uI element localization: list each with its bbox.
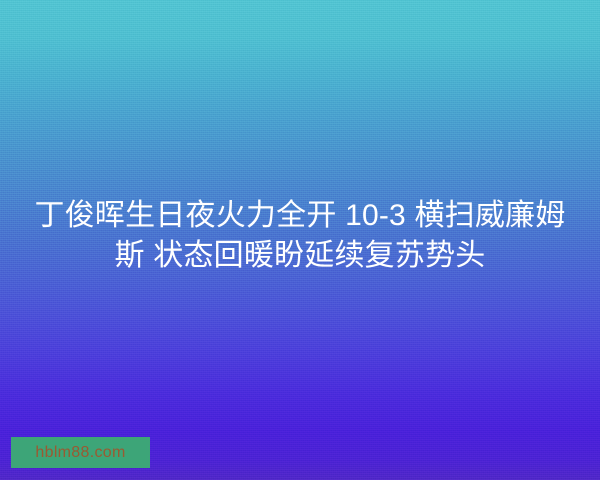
watermark-badge: hblm88.com bbox=[11, 437, 150, 468]
watermark-text: hblm88.com bbox=[35, 445, 125, 461]
news-image-card: 丁俊晖生日夜火力全开 10-3 横扫威廉姆斯 状态回暖盼延续复苏势头 hblm8… bbox=[0, 0, 600, 480]
headline-text: 丁俊晖生日夜火力全开 10-3 横扫威廉姆斯 状态回暖盼延续复苏势头 bbox=[0, 196, 600, 276]
